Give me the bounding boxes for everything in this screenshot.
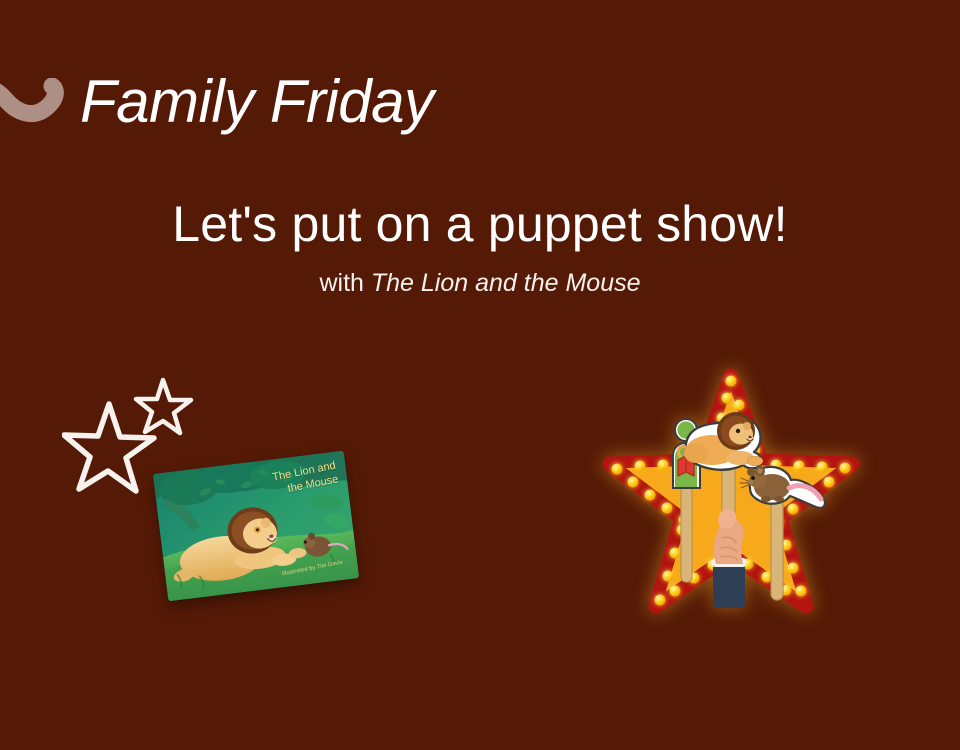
wave-decoration-icon — [0, 78, 76, 130]
eyebrow-title: Family Friday — [80, 72, 434, 132]
headline-block: Let's put on a puppet show! with The Lio… — [0, 196, 960, 298]
book-cover: The Lion and the Mouse Illustrated by Ti… — [153, 451, 359, 601]
page-subtitle: with The Lion and the Mouse — [0, 268, 960, 298]
subtitle-prefix: with — [319, 269, 370, 297]
marquee-star-art — [600, 368, 862, 620]
page-title: Let's put on a puppet show! — [0, 196, 960, 252]
marquee-star-illustration — [600, 368, 862, 620]
book-cover-art — [153, 451, 359, 601]
slide-canvas: Family Friday Let's put on a puppet show… — [0, 0, 960, 750]
subtitle-book-title: The Lion and the Mouse — [371, 269, 641, 297]
